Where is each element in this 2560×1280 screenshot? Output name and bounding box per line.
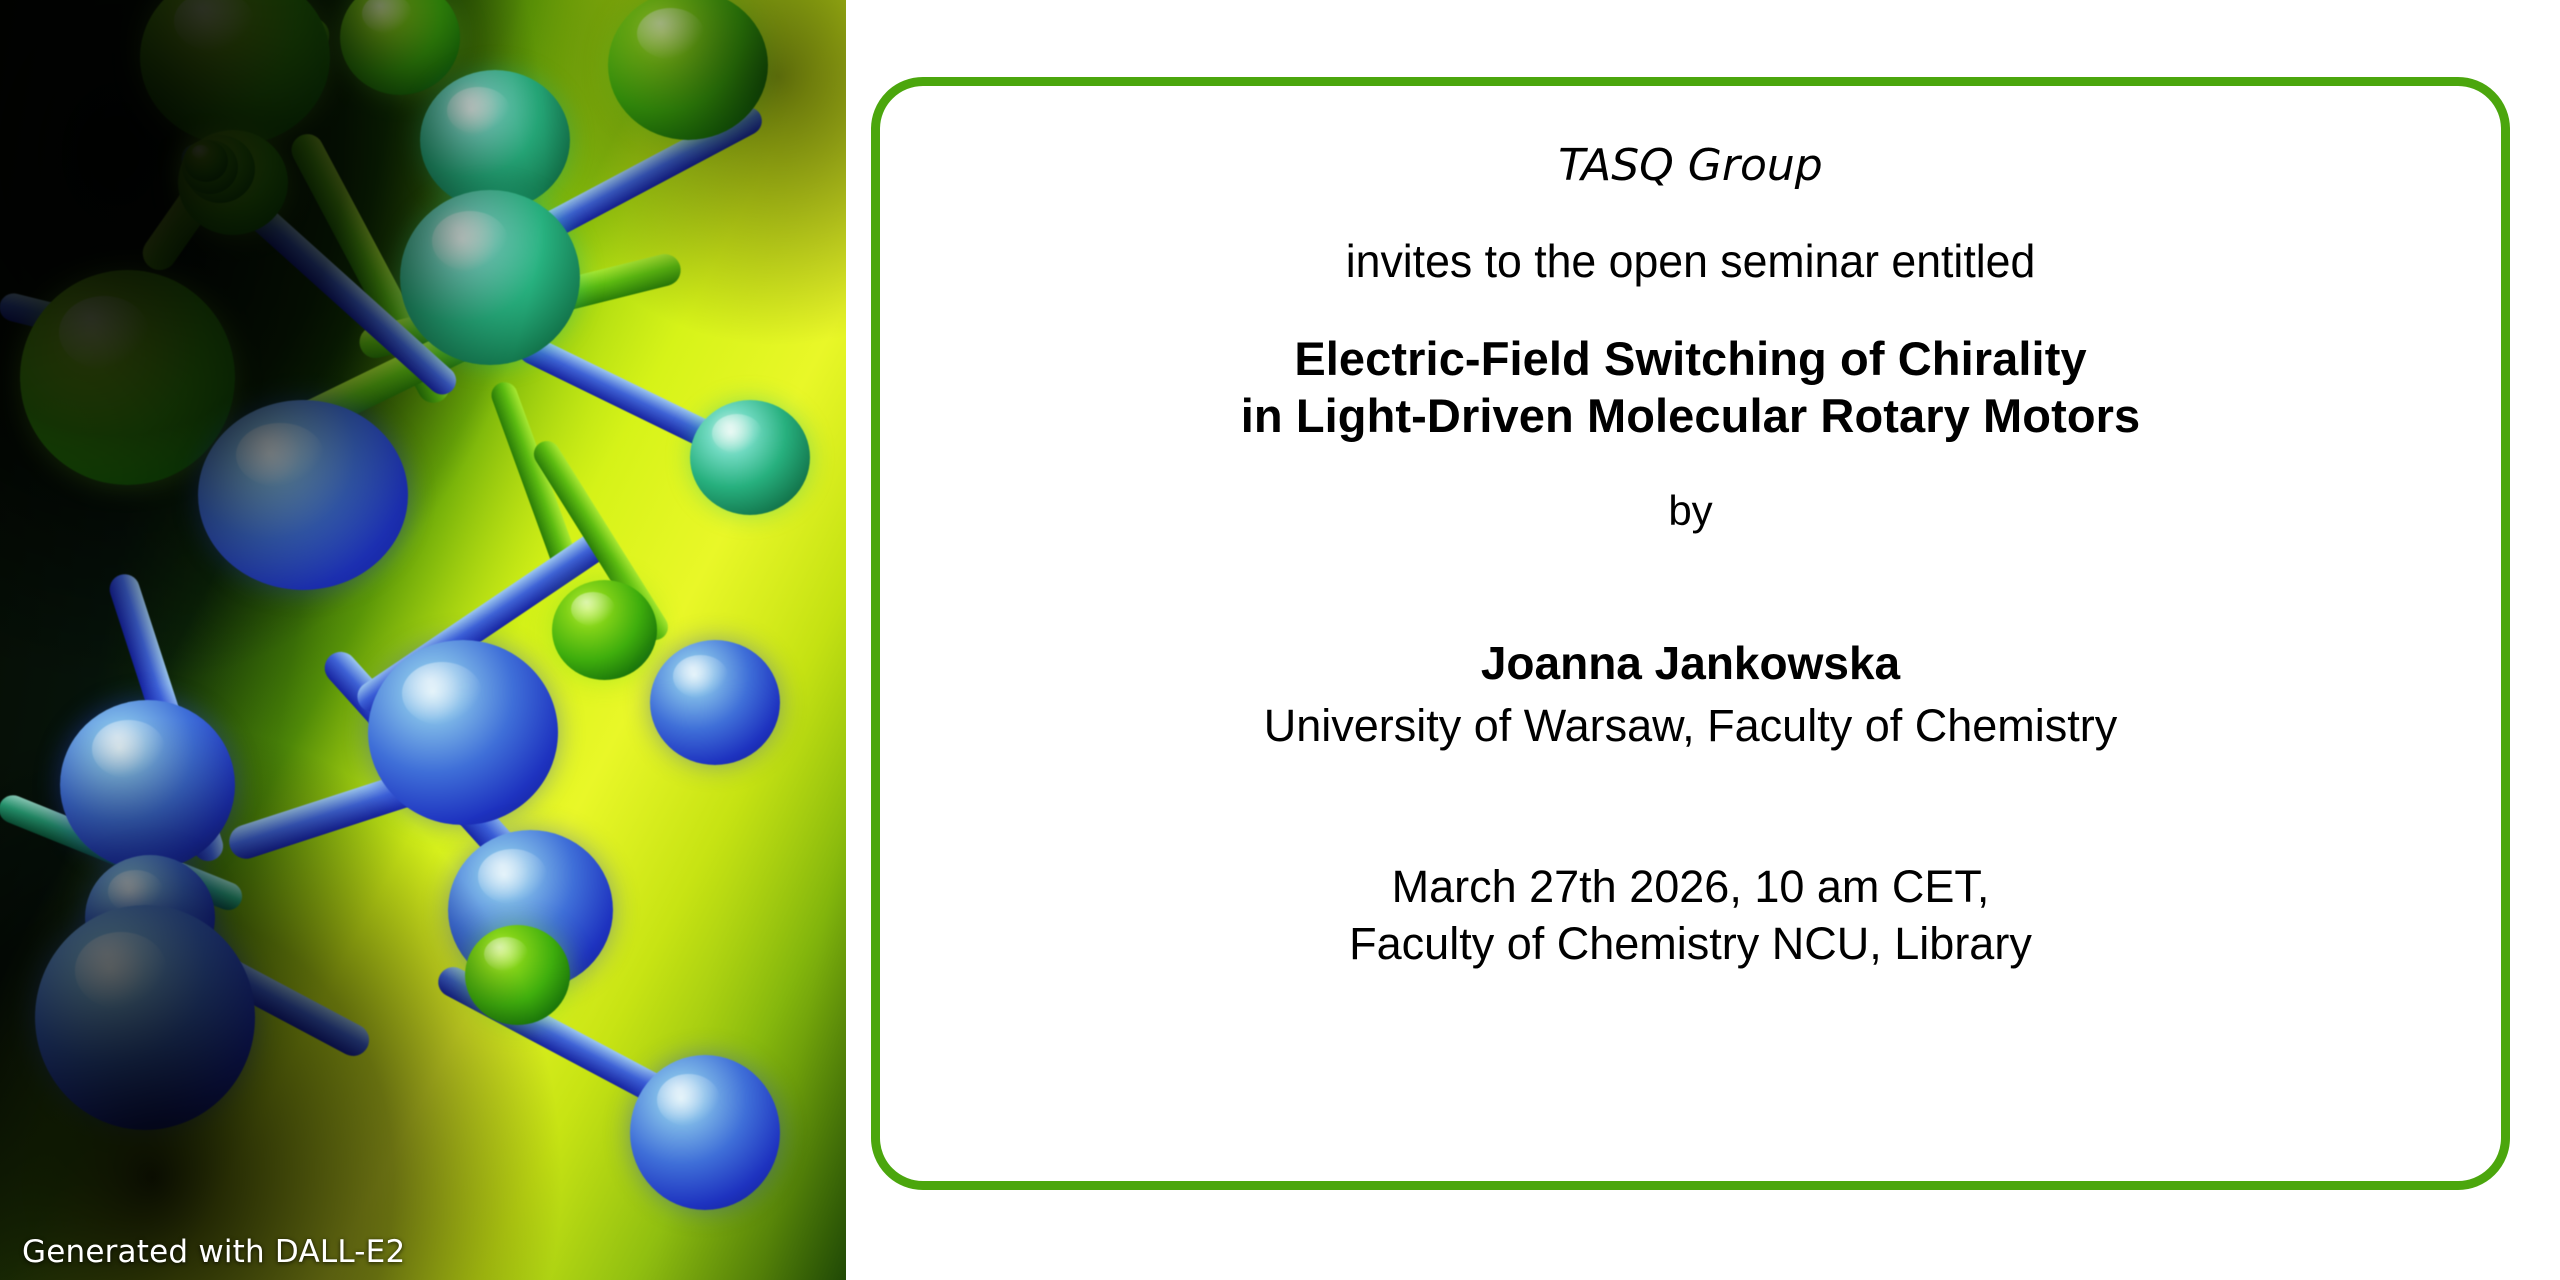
artwork-credit-label: Generated with DALL-E2 bbox=[22, 1234, 405, 1270]
seminar-announcement-poster: Generated with DALL-E2 TASQ Group invite… bbox=[0, 0, 2560, 1280]
spacer bbox=[880, 445, 2501, 490]
spacer bbox=[880, 748, 2501, 858]
speaker-name: Joanna Jankowska bbox=[880, 640, 2501, 686]
seminar-datetime: March 27th 2026, 10 am CET, bbox=[880, 858, 2501, 916]
spacer bbox=[880, 284, 2501, 330]
spacer bbox=[880, 532, 2501, 640]
organizer-name: TASQ Group bbox=[880, 144, 2501, 188]
seminar-venue: Faculty of Chemistry NCU, Library bbox=[880, 915, 2501, 973]
by-label: by bbox=[880, 490, 2501, 532]
molecule-artwork-panel: Generated with DALL-E2 bbox=[0, 0, 846, 1280]
artwork-vignette bbox=[0, 0, 846, 1280]
speaker-affiliation: University of Warsaw, Faculty of Chemist… bbox=[880, 703, 2501, 748]
invitation-text: invites to the open seminar entitled bbox=[904, 238, 2476, 284]
seminar-title-line-1: Electric-Field Switching of Chirality bbox=[880, 330, 2501, 387]
announcement-card: TASQ Group invites to the open seminar e… bbox=[871, 77, 2510, 1190]
spacer bbox=[880, 188, 2501, 238]
announcement-card-content: TASQ Group invites to the open seminar e… bbox=[880, 86, 2501, 973]
seminar-title-line-2: in Light-Driven Molecular Rotary Motors bbox=[880, 387, 2501, 444]
